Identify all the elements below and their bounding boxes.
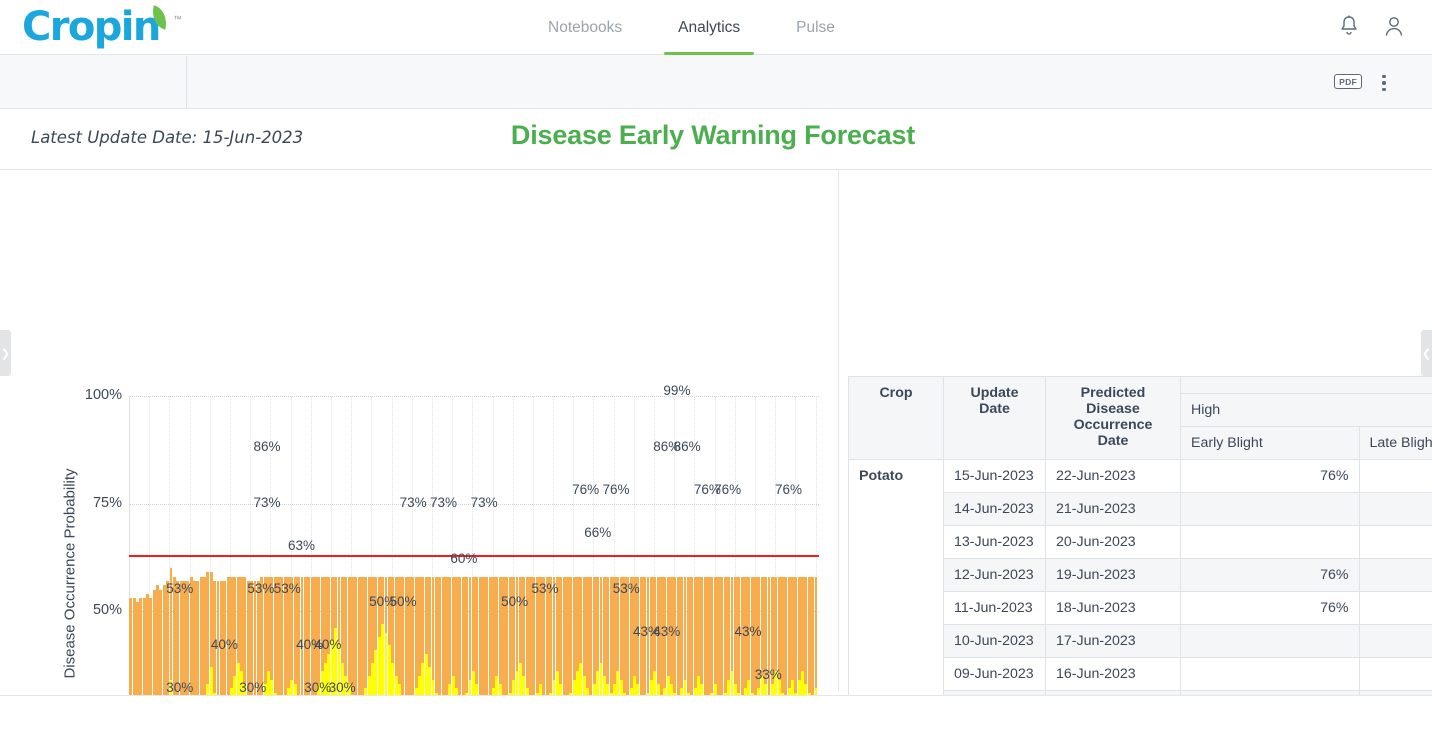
chart-point-label: 53% — [532, 581, 559, 596]
chart-y-tick: 75% — [66, 495, 122, 511]
chart-plot-area: 53%30%0%0%40%20%30%86%73%53%53%63%40%40%… — [129, 396, 819, 732]
chart-point-label: 63% — [288, 538, 315, 553]
chart-point-label: 30% — [304, 680, 331, 695]
cell-late-blight — [1359, 592, 1432, 625]
nav-link-notebooks[interactable]: Notebooks — [520, 0, 650, 55]
cell-predicted-date: 16-Jun-2023 — [1046, 658, 1181, 691]
cell-update-date: 12-Jun-2023 — [944, 559, 1046, 592]
cell-update-date: 10-Jun-2023 — [944, 625, 1046, 658]
th-early-blight[interactable]: Early Blight — [1181, 427, 1360, 460]
chart-point-label: 60% — [450, 551, 477, 566]
chart-point-label: 43% — [734, 624, 761, 639]
cell-predicted-date: 22-Jun-2023 — [1046, 460, 1181, 493]
brand-name: Cropin — [22, 5, 160, 49]
cell-crop: Potato — [849, 460, 944, 732]
chart-point-label: 73% — [430, 495, 457, 510]
panel-divider — [838, 170, 839, 691]
cell-early-blight: 76% — [1181, 559, 1360, 592]
cell-late-blight — [1359, 460, 1432, 493]
chart-point-label: 86% — [674, 439, 701, 454]
page-title: Disease Early Warning Forecast — [0, 120, 1432, 151]
chart-bar-segment — [815, 577, 818, 689]
chart-point-label: 76% — [714, 482, 741, 497]
left-panel-toggle[interactable]: ❯ — [0, 330, 11, 376]
cell-late-blight — [1359, 559, 1432, 592]
table-row[interactable]: Potato15-Jun-202322-Jun-202376% — [849, 460, 1432, 493]
chart-point-label: 76% — [603, 482, 630, 497]
chart-point-label: 73% — [471, 495, 498, 510]
primary-nav-links: Notebooks Analytics Pulse — [520, 0, 863, 55]
chart-point-label: 76% — [775, 482, 802, 497]
cell-late-blight — [1359, 526, 1432, 559]
chart-point-label: 53% — [166, 581, 193, 596]
kebab-menu-icon[interactable] — [1374, 72, 1394, 94]
chart-point-label: 53% — [613, 581, 640, 596]
chart-point-label: 50% — [389, 594, 416, 609]
chart-point-label: 30% — [166, 680, 193, 695]
chart-point-label: 53% — [274, 581, 301, 596]
cell-update-date: 09-Jun-2023 — [944, 658, 1046, 691]
cell-predicted-date: 21-Jun-2023 — [1046, 493, 1181, 526]
toolbar-divider — [186, 56, 187, 108]
th-late-blight[interactable]: Late Blight — [1359, 427, 1432, 460]
th-update-date[interactable]: Update Date — [944, 377, 1046, 460]
cell-update-date: 13-Jun-2023 — [944, 526, 1046, 559]
chart-point-label: 66% — [584, 525, 611, 540]
th-predicted-date[interactable]: Predicted Disease Occurrence Date — [1046, 377, 1181, 460]
nav-link-analytics[interactable]: Analytics — [650, 0, 768, 55]
cell-update-date: 14-Jun-2023 — [944, 493, 1046, 526]
chart-point-label: 76% — [572, 482, 599, 497]
user-avatar-icon[interactable] — [1382, 14, 1406, 38]
cell-update-date: 15-Jun-2023 — [944, 460, 1046, 493]
cell-early-blight — [1181, 625, 1360, 658]
chart-point-label: 30% — [239, 680, 266, 695]
cropin-logo[interactable]: Cropin ™ — [22, 4, 160, 50]
cell-late-blight — [1359, 625, 1432, 658]
bottom-bar — [0, 695, 1432, 732]
cell-early-blight — [1181, 526, 1360, 559]
top-navigation-bar: Cropin ™ Notebooks Analytics Pulse — [0, 0, 1432, 55]
forecast-table-container: Crop Update Date Predicted Disease Occur… — [848, 376, 1432, 732]
table-head: Crop Update Date Predicted Disease Occur… — [849, 377, 1432, 460]
chart-point-label: 86% — [253, 439, 280, 454]
chart-point-label: 73% — [400, 495, 427, 510]
chart-point-label: 99% — [663, 383, 690, 398]
cell-early-blight: 76% — [1181, 592, 1360, 625]
chart-point-label: 50% — [501, 594, 528, 609]
report-body: Disease Occurrence Probability 0%25%50%7… — [0, 170, 1432, 695]
chart-point-label: 43% — [653, 624, 680, 639]
report-toolbar — [0, 55, 1432, 109]
chart-point-label: 33% — [755, 667, 782, 682]
cell-predicted-date: 19-Jun-2023 — [1046, 559, 1181, 592]
th-spacer — [1181, 377, 1432, 394]
chart-bar[interactable] — [815, 396, 818, 732]
right-panel-toggle[interactable]: ❮ — [1421, 330, 1432, 376]
table-body: Potato15-Jun-202322-Jun-202376%14-Jun-20… — [849, 460, 1432, 732]
notification-bell-icon[interactable] — [1338, 14, 1360, 38]
th-crop[interactable]: Crop — [849, 377, 944, 460]
analytics-dashboard: Cropin ™ Notebooks Analytics Pulse PDF L… — [0, 0, 1432, 732]
chart-point-label: 40% — [211, 637, 238, 652]
chart-y-tick: 50% — [66, 602, 122, 618]
chart-point-label: 40% — [314, 637, 341, 652]
chart-point-label: 73% — [253, 495, 280, 510]
th-risk-group-high[interactable]: High — [1181, 394, 1432, 427]
chart-y-axis-title: Disease Occurrence Probability — [62, 444, 79, 704]
cell-update-date: 11-Jun-2023 — [944, 592, 1046, 625]
nav-link-pulse[interactable]: Pulse — [768, 0, 863, 55]
cell-early-blight — [1181, 658, 1360, 691]
cell-predicted-date: 18-Jun-2023 — [1046, 592, 1181, 625]
chart-point-label: 53% — [247, 581, 274, 596]
forecast-table: Crop Update Date Predicted Disease Occur… — [848, 376, 1432, 732]
cell-predicted-date: 17-Jun-2023 — [1046, 625, 1181, 658]
chart-y-tick: 100% — [66, 387, 122, 403]
nav-icon-group — [1338, 14, 1406, 38]
cell-late-blight — [1359, 493, 1432, 526]
cell-early-blight — [1181, 493, 1360, 526]
cell-early-blight: 76% — [1181, 460, 1360, 493]
cell-predicted-date: 20-Jun-2023 — [1046, 526, 1181, 559]
cell-late-blight — [1359, 658, 1432, 691]
chart-point-label: 30% — [329, 680, 356, 695]
trademark-symbol: ™ — [173, 14, 182, 24]
export-pdf-button[interactable]: PDF — [1334, 74, 1362, 89]
table-header-row-1: Crop Update Date Predicted Disease Occur… — [849, 377, 1432, 394]
disease-probability-chart: Disease Occurrence Probability 0%25%50%7… — [0, 340, 838, 732]
